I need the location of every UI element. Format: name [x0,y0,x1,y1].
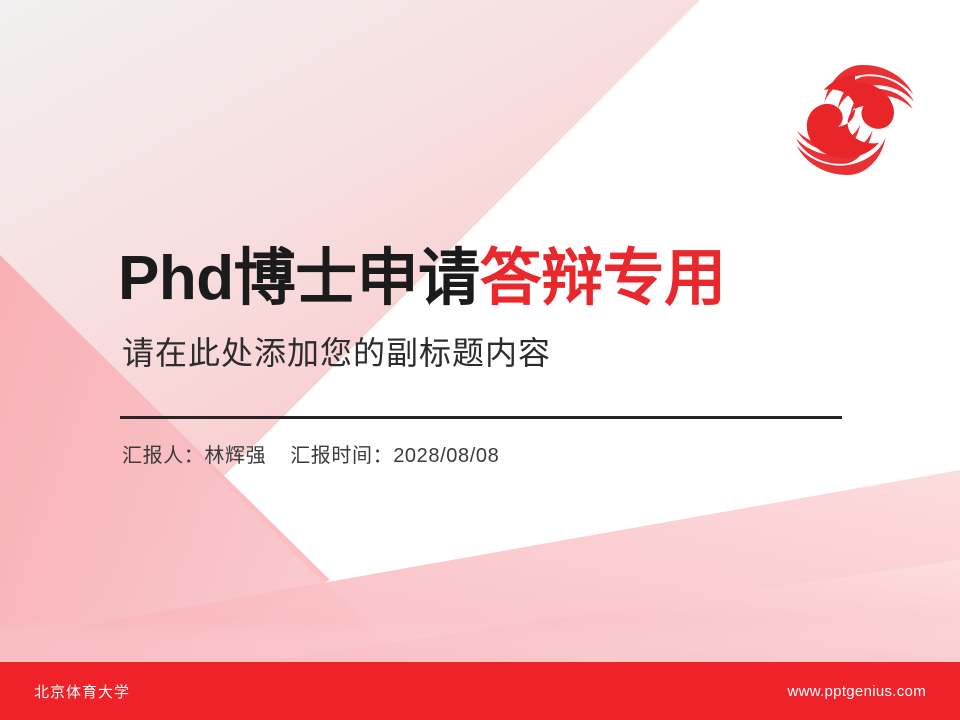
title-block: Phd博士申请答辩专用 请在此处添加您的副标题内容 汇报人：林辉强汇报时间：20… [118,246,878,468]
meta-line: 汇报人：林辉强汇报时间：2028/08/08 [122,439,878,468]
presentation-title-slide: Phd博士申请答辩专用 请在此处添加您的副标题内容 汇报人：林辉强汇报时间：20… [0,0,960,720]
footer-bar: 北京体育大学 www.pptgenius.com [0,662,960,720]
date-label: 汇报时间：2028/08/08 [290,445,499,467]
university-logo [782,47,928,193]
page-title: Phd博士申请答辩专用 [118,246,878,312]
divider-rule [120,416,842,419]
swirl-emblem-icon [782,47,928,193]
footer-website[interactable]: www.pptgenius.com [788,683,927,700]
footer-organization: 北京体育大学 [34,681,130,702]
subtitle: 请在此处添加您的副标题内容 [122,334,878,372]
title-accent-part: 答辩专用 [480,244,726,313]
title-dark-part: Phd博士申请 [118,244,480,313]
presenter-label: 汇报人：林辉强 [122,445,266,467]
